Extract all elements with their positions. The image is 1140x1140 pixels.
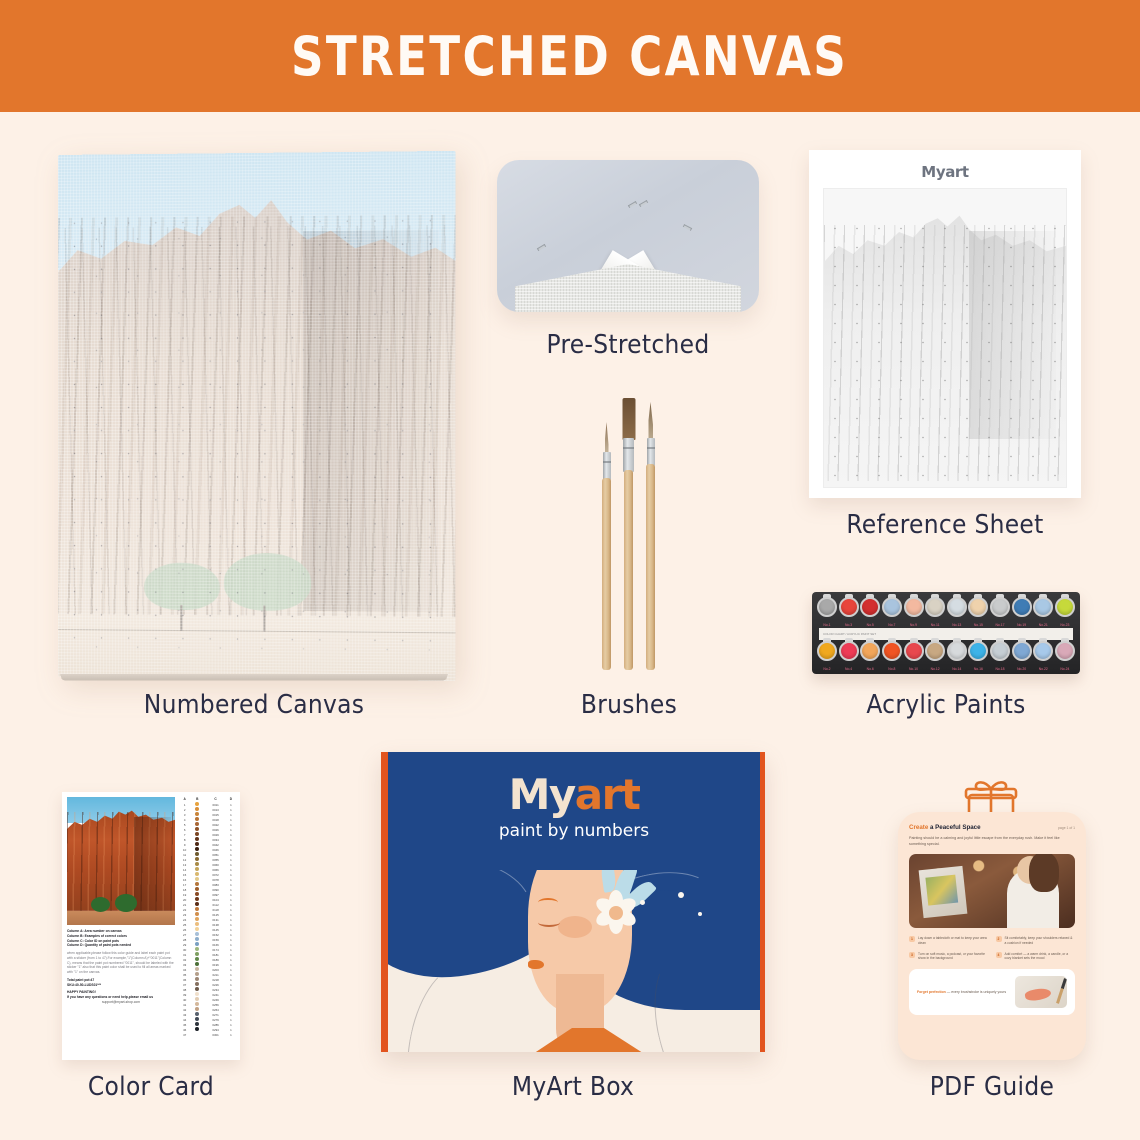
paint-pot-lid [925,641,945,661]
paint-pot-lid [839,597,859,617]
pdf-tip-item: 3Turn on soft music, a podcast, or your … [909,952,989,962]
brush-handle [624,470,633,670]
pdf-tips-grid: 1Lay down a tablecloth or mat to keep yo… [909,936,1075,961]
paint-pot-number: No.23 [1055,623,1075,627]
paint-pot: No.22 [1033,641,1053,671]
reference-number-dots [824,219,1066,481]
caption-pdf-guide: PDF Guide [898,1072,1086,1102]
cell-color-id: 0301 [204,1032,227,1037]
paint-pot-lid [839,641,859,661]
box-edge-right [760,752,765,1052]
pdf-tip-number: 4 [996,952,1002,958]
paint-pot: No.9 [904,597,924,627]
color-swatch [195,867,199,871]
paint-pot-number: No.14 [947,667,967,671]
paint-pot: No.8 [882,641,902,671]
pdf-header: Create a Peaceful Space page 1 of 1 [909,824,1075,831]
color-swatch [195,1027,199,1031]
color-swatch [195,827,199,831]
color-swatch [195,982,199,986]
color-swatch [195,1007,199,1011]
color-swatch [195,997,199,1001]
color-swatch [195,907,199,911]
paint-pot-lid [1033,641,1053,661]
flower-icon [593,890,639,936]
paint-pot-lid [925,597,945,617]
color-card-left-column: Column A: Area number on canvas Column B… [67,797,175,1055]
pdf-tip-text: Lay down a tablecloth or mat to keep you… [918,936,989,946]
paint-pot-lid [904,641,924,661]
paint-pot-number: No.6 [860,667,880,671]
paint-tray-label-strip: COLOR CHART / ACRYLIC PAINT SET [819,628,1073,640]
paint-pot: No.1 [817,597,837,627]
paint-pot-number: No.12 [925,667,945,671]
paint-pot-number: No.24 [1055,667,1075,671]
color-swatch [195,977,199,981]
color-swatch [195,822,199,826]
paint-pot-number: No.7 [882,623,902,627]
paint-pot-number: No.13 [947,623,967,627]
paint-pot-lid [860,641,880,661]
color-card-reference-photo [67,797,175,925]
brush-ferrule [647,438,655,466]
color-swatch [195,882,199,886]
paint-pot-lid [968,597,988,617]
legend-column-d: Column D: Quantity of paint pots needed [67,943,175,948]
color-swatch [195,902,199,906]
paint-pot-lid [1012,597,1032,617]
pdf-photo-easel [919,866,968,918]
paint-pot-lid [860,597,880,617]
acrylic-paint-tray: No.1No.3No.5No.7No.9No.11No.13No.15No.17… [812,592,1080,674]
pdf-tip-item: 2Sit comfortably, keep your shoulders re… [996,936,1076,946]
paint-pot: No.19 [1012,597,1032,627]
paint-pot-lid [1055,597,1075,617]
canvas-bottom-edge [60,674,448,680]
caption-acrylic-paints: Acrylic Paints [812,690,1080,720]
color-swatch [195,817,199,821]
caption-reference-sheet: Reference Sheet [809,510,1081,540]
paint-pot-number: No.11 [925,623,945,627]
color-swatch [195,947,199,951]
paint-pot-lid [1033,597,1053,617]
pdf-tip-item: 1Lay down a tablecloth or mat to keep yo… [909,936,989,946]
color-swatch [195,802,199,806]
pdf-tip-number: 3 [909,952,915,958]
pdf-tip-item: 4Add comfort — a warm drink, a candle, o… [996,952,1076,962]
myart-box: Myart paint by numbers [381,752,765,1052]
box-logo-my: My [509,770,575,819]
color-swatch [195,937,199,941]
decorative-dot [678,892,684,898]
color-swatch [195,967,199,971]
paint-pot: No.12 [925,641,945,671]
illustration-cheek [558,916,592,938]
color-swatch [195,832,199,836]
brush-tip [622,398,635,440]
color-card-legend: Column A: Area number on canvas Column B… [67,929,175,1005]
paint-pot-number: No.3 [839,623,859,627]
paint-pot: No.16 [968,641,988,671]
color-card-table-column: ABCD 10011120013130015140018150022160026… [179,797,235,1055]
caption-myart-box: MyArt Box [381,1072,765,1102]
canvas-number-dots [58,204,456,655]
paint-pot-number: No.5 [860,623,880,627]
decorative-dot [698,912,702,916]
brush-round [646,402,655,670]
brush-handle [646,464,655,670]
color-swatch [195,927,199,931]
paint-pot-row-bottom: No.2No.4No.6No.8No.10No.12No.14No.16No.1… [817,641,1075,671]
color-swatch [195,917,199,921]
pdf-tip-number: 1 [909,936,915,942]
illustration-lips [528,960,544,969]
paint-pot-number: No.8 [882,667,902,671]
support-email: support@myart-shop.com [67,1000,175,1005]
paint-pot: No.7 [882,597,902,627]
paint-pot: No.4 [839,641,859,671]
paint-pot-number: No.16 [968,667,988,671]
pdf-page-label: page 1 of 1 [1058,826,1075,830]
cell-area-number: 47 [179,1032,190,1037]
paint-pot: No.17 [990,597,1010,627]
paint-pot-lid [947,641,967,661]
color-swatch [195,842,199,846]
paint-pot: No.18 [990,641,1010,671]
paint-pot: No.21 [1033,597,1053,627]
brush-flat [624,394,633,670]
pdf-title-highlight: Create [909,824,928,831]
box-tagline: paint by numbers [388,821,760,841]
staple-icon [683,224,692,231]
pdf-intro-text: Painting should be a calming and joyful … [909,836,1075,847]
pdf-callout-rest: — every brushstroke is uniquely yours [946,990,1006,994]
paint-pot: No.23 [1055,597,1075,627]
caption-numbered-canvas: Numbered Canvas [58,690,450,720]
paint-pot: No.5 [860,597,880,627]
pdf-callout-bold: Forget perfection [917,990,946,994]
color-swatch [195,877,199,881]
pdf-title-rest: a Peaceful Space [928,824,980,831]
paint-pot-number: No.17 [990,623,1010,627]
paint-pot-lid [904,597,924,617]
pdf-tip-text: Turn on soft music, a podcast, or your f… [918,952,989,962]
brushes-group [598,390,660,670]
brush-tip [648,402,653,440]
color-swatch [195,962,199,966]
paint-pot-number: No.20 [1012,667,1032,671]
paint-pot-number: No.1 [817,623,837,627]
color-swatch [195,942,199,946]
paint-pot: No.13 [947,597,967,627]
pdf-guide-card: Create a Peaceful Space page 1 of 1 Pain… [898,812,1086,1060]
pdf-callout-image [1015,976,1067,1008]
color-swatch [195,807,199,811]
color-swatch [195,837,199,841]
paint-pot-lid [947,597,967,617]
paint-pot-number: No.2 [817,667,837,671]
paint-pot-lid [968,641,988,661]
paint-pot: No.6 [860,641,880,671]
pdf-photo-person [1007,870,1059,928]
paint-pot-number: No.15 [968,623,988,627]
paint-pot-lid [817,641,837,661]
paint-pot-number: No.21 [1033,623,1053,627]
paint-pot-number: No.19 [1012,623,1032,627]
color-swatch [195,1022,199,1026]
color-card: Column A: Area number on canvas Column B… [62,792,240,1060]
color-swatch [195,852,199,856]
photo-shadow [134,817,171,912]
page-title: STRETCHED CANVAS [291,25,848,88]
paint-pot: No.24 [1055,641,1075,671]
brush-ferrule [603,452,611,480]
paint-pot: No.20 [1012,641,1032,671]
table-row: 4703011 [179,1032,235,1037]
canvas-face [58,151,456,681]
paint-pot-number: No.9 [904,623,924,627]
paint-pot-number: No.18 [990,667,1010,671]
color-swatch [195,812,199,816]
page-header: STRETCHED CANVAS [0,0,1140,112]
caption-color-card: Color Card [52,1072,250,1102]
caption-brushes: Brushes [498,690,760,720]
paint-pot-number: No.22 [1033,667,1053,671]
color-swatch [195,932,199,936]
canvas-back-weave [515,264,741,312]
brush-ferrule [623,438,634,472]
color-swatch [195,847,199,851]
paint-pot-row-top: No.1No.3No.5No.7No.9No.11No.13No.15No.17… [817,597,1075,627]
color-swatch [195,952,199,956]
color-swatch [195,857,199,861]
pdf-callout: Forget perfection — every brushstroke is… [909,969,1075,1015]
paint-pot-number: No.4 [839,667,859,671]
paint-pot: No.11 [925,597,945,627]
color-swatch [195,957,199,961]
color-swatch [195,922,199,926]
photo-ground [67,911,175,925]
paint-pot-lid [882,641,902,661]
table-body: 1001112001313001514001815002216002617002… [179,802,235,1037]
pdf-photo [909,854,1075,928]
paint-pot: No.3 [839,597,859,627]
color-swatch [195,1017,199,1021]
decorative-stem [395,960,495,1052]
paint-pot-lid [990,641,1010,661]
pdf-tip-text: Add comfort — a warm drink, a candle, or… [1005,952,1076,962]
caption-pre-stretched: Pre-Stretched [497,330,759,360]
illustration-eyebrow [538,898,558,907]
paint-pot-number: No.10 [904,667,924,671]
staple-icon [639,200,648,207]
reference-sheet: Myart [809,150,1081,498]
staple-icon [628,201,637,208]
cell-quantity: 1 [227,1032,235,1037]
cell-color-example [190,1032,204,1037]
box-logo-art: art [575,770,640,819]
color-swatch [195,1032,199,1036]
brush-tip [605,422,609,454]
color-swatch [195,897,199,901]
box-illustration [388,870,760,1052]
color-swatch [195,862,199,866]
paint-pot-lid [1055,641,1075,661]
color-swatch [195,1002,199,1006]
paint-pot-lid [1012,641,1032,661]
box-header-panel: Myart paint by numbers [388,752,760,870]
box-edge-left [381,752,388,1052]
paint-pot-lid [882,597,902,617]
paint-pot: No.2 [817,641,837,671]
color-swatch [195,992,199,996]
flower-center [609,906,623,920]
color-swatch [195,912,199,916]
color-swatch [195,872,199,876]
pdf-title: Create a Peaceful Space [909,824,981,831]
pre-stretched-card [497,160,759,312]
color-swatch [195,887,199,891]
pdf-callout-text: Forget perfection — every brushstroke is… [917,990,1008,995]
numbered-canvas [58,155,450,677]
paint-pot: No.15 [968,597,988,627]
paint-pot-lid [990,597,1010,617]
color-swatch [195,972,199,976]
staple-icon [537,244,546,251]
sku-code: SKU:40-50-LUDS01*** [67,983,175,988]
illustration-closed-eye [538,918,560,927]
color-swatch [195,987,199,991]
paint-pot: No.14 [947,641,967,671]
reference-sheet-artwork [823,188,1067,488]
paint-pot: No.10 [904,641,924,671]
decorative-dot [640,900,645,905]
legend-note: when applicable,please follow this color… [67,951,175,975]
color-swatch [195,1012,199,1016]
color-reference-table: ABCD 10011120013130015140018150022160026… [179,797,235,1037]
reference-sheet-logo: Myart [823,163,1067,181]
paint-pot-lid [817,597,837,617]
pdf-tip-text: Sit comfortably, keep your shoulders rel… [1005,936,1076,946]
box-logo: Myart [388,770,760,819]
color-swatch [195,892,199,896]
brush-handle [602,478,611,670]
pdf-tip-number: 2 [996,936,1002,942]
brush-liner [602,424,611,670]
